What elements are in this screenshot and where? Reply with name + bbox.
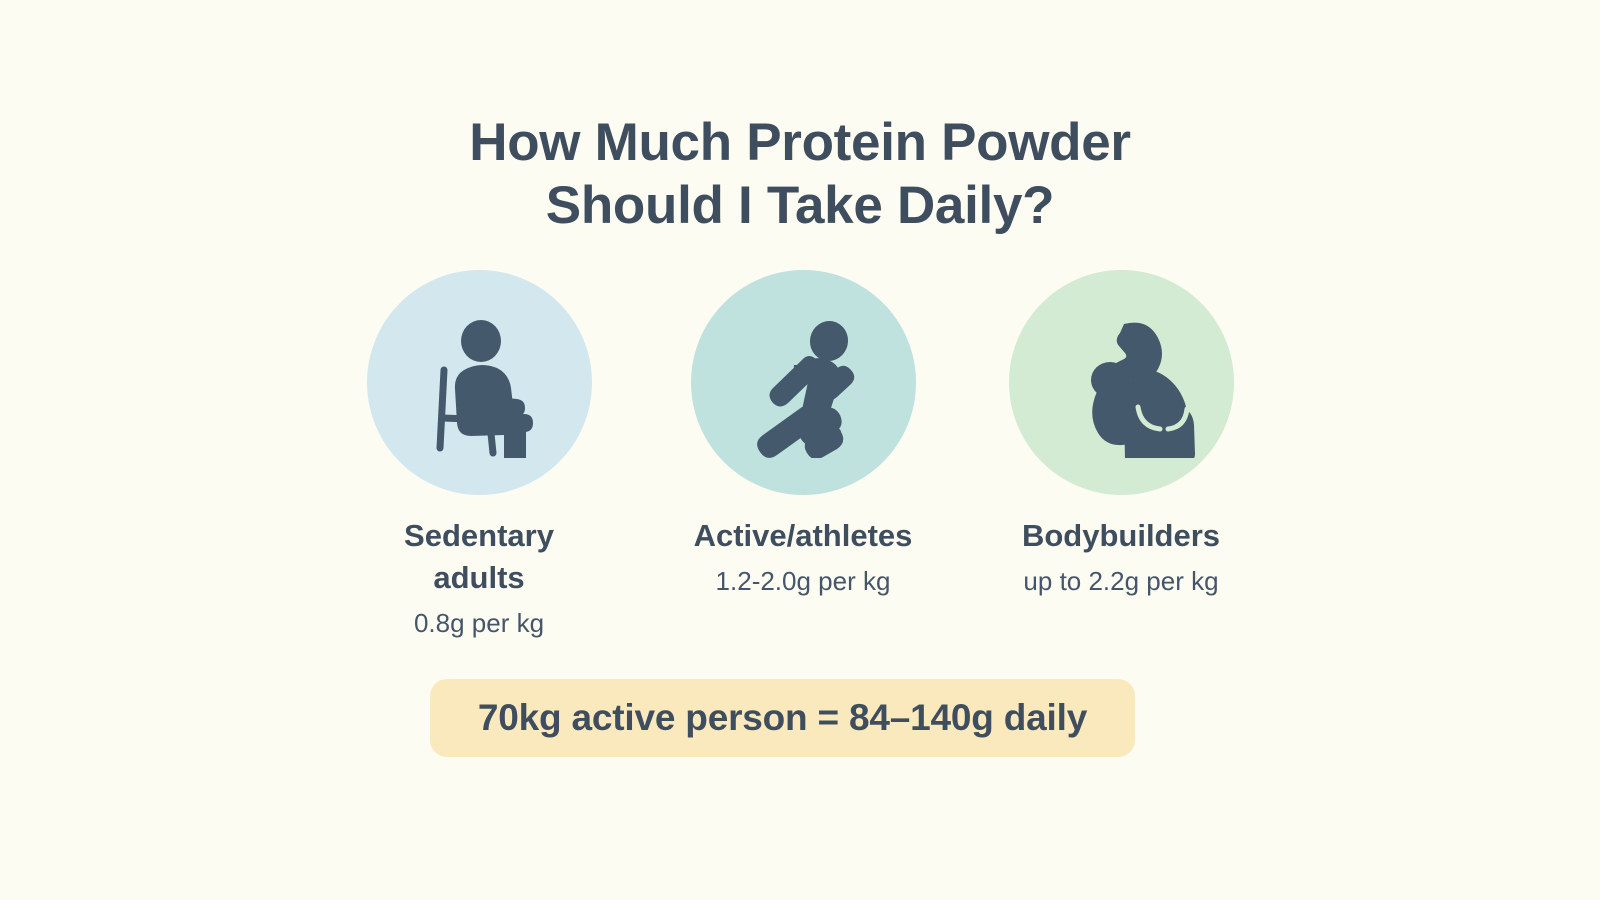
category-sedentary-adults: Sedentary adults 0.8g per kg	[317, 270, 641, 640]
title-line-1: How Much Protein Powder	[469, 112, 1131, 175]
category-list: Sedentary adults 0.8g per kg	[0, 270, 1600, 640]
title-line-2: Should I Take Daily?	[469, 175, 1131, 238]
category-amount: 1.2-2.0g per kg	[716, 566, 891, 597]
category-label: Bodybuilders	[1022, 515, 1220, 557]
category-label: Sedentary adults	[369, 515, 589, 599]
category-amount: 0.8g per kg	[414, 608, 544, 639]
flexing-bodybuilder-icon	[1009, 270, 1234, 495]
category-active-athletes: Active/athletes 1.2-2.0g per kg	[641, 270, 965, 597]
running-person-icon	[691, 270, 916, 495]
category-bodybuilders: Bodybuilders up to 2.2g per kg	[959, 270, 1283, 597]
protein-infographic: How Much Protein Powder Should I Take Da…	[0, 0, 1600, 900]
page-title: How Much Protein Powder Should I Take Da…	[469, 112, 1131, 237]
summary-banner-text: 70kg active person = 84–140g daily	[478, 697, 1087, 739]
summary-banner: 70kg active person = 84–140g daily	[430, 679, 1135, 757]
category-amount: up to 2.2g per kg	[1023, 566, 1218, 597]
sitting-person-icon	[367, 270, 592, 495]
category-label: Active/athletes	[694, 515, 913, 557]
